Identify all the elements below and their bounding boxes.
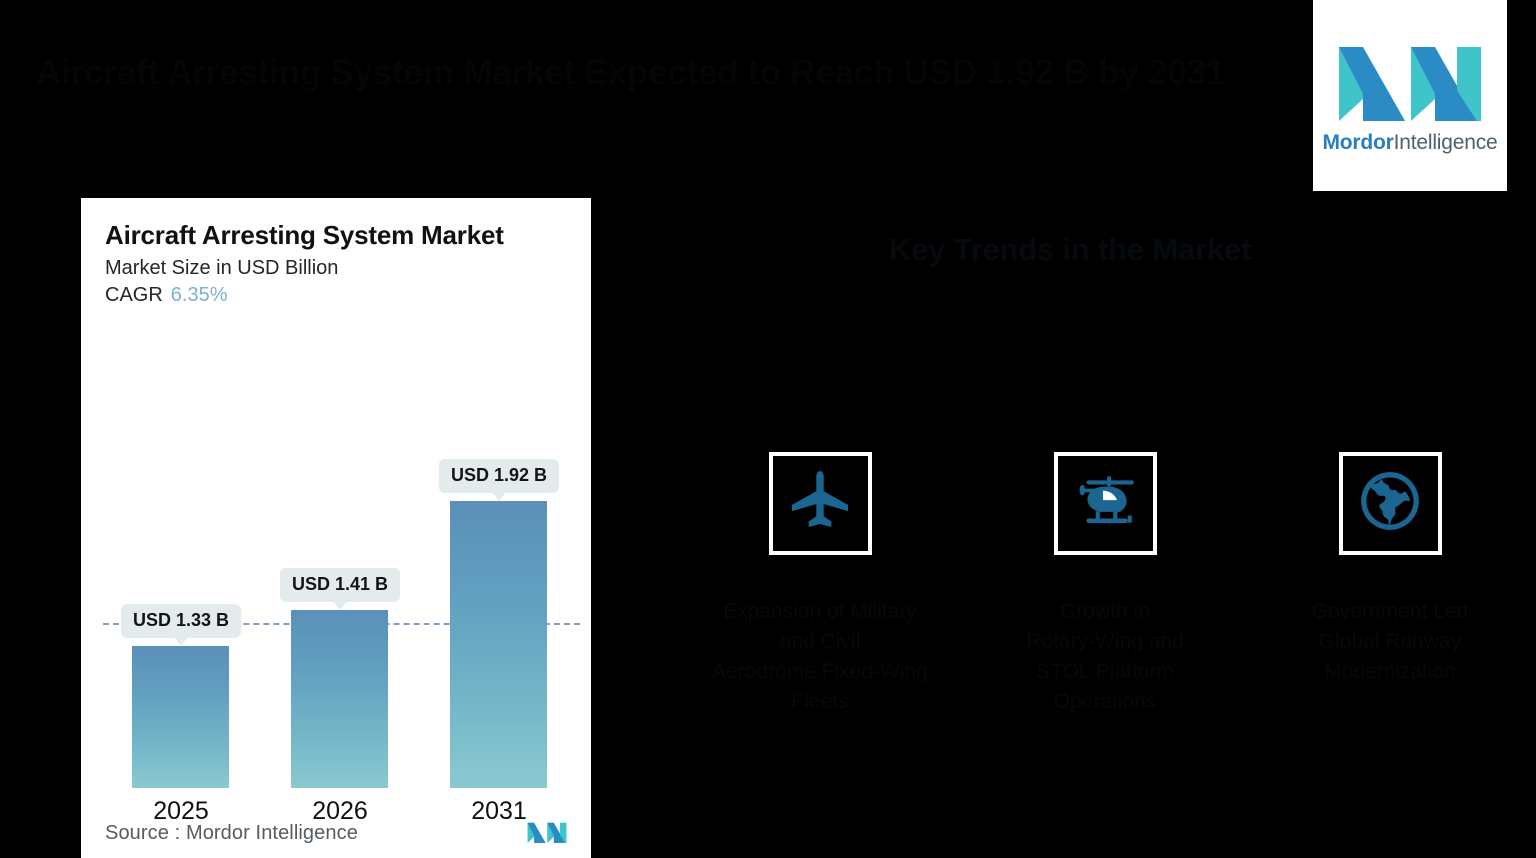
brand-wordmark: MordorIntelligence xyxy=(1323,131,1498,155)
brand-name-light: Intelligence xyxy=(1394,131,1498,154)
trend-icon-box xyxy=(1054,452,1157,555)
source-row: Source : Mordor Intelligence xyxy=(105,820,567,846)
bar-chart-plot: USD 1.33 B USD 1.41 B USD 1.92 B 2025 20… xyxy=(81,318,591,788)
trends-row: Expansion of Militaryand CivilAerodrome … xyxy=(700,452,1510,717)
mordor-m-logo-icon xyxy=(527,820,567,846)
bar-value-label-2025: USD 1.33 B xyxy=(121,604,241,638)
cagr-label: CAGR xyxy=(105,284,163,306)
globe-icon xyxy=(1357,468,1423,539)
trends-heading: Key Trends in the Market xyxy=(640,232,1500,268)
trend-item-runway-modernization: Government LedGlobal RunwayModernization xyxy=(1270,452,1510,717)
brand-logo-card: MordorIntelligence xyxy=(1313,0,1507,191)
cagr-value: 6.35% xyxy=(171,284,228,306)
chart-cagr-row: CAGR6.35% xyxy=(105,284,567,307)
chart-subtitle: Market Size in USD Billion xyxy=(105,257,567,280)
source-label: Source : Mordor Intelligence xyxy=(105,822,358,845)
bar-value-label-2031: USD 1.92 B xyxy=(439,459,559,493)
airplane-icon xyxy=(787,468,853,539)
trend-caption: Government LedGlobal RunwayModernization xyxy=(1312,597,1468,687)
bar-2025 xyxy=(132,646,229,788)
trend-icon-box xyxy=(769,452,872,555)
trend-item-rotary-wing: Growth inRotary-Wing andSTOL PlatformOpe… xyxy=(985,452,1225,717)
bar-2031 xyxy=(450,501,547,788)
bar-2026 xyxy=(291,610,388,788)
brand-name-bold: Mordor xyxy=(1323,131,1394,154)
helicopter-icon xyxy=(1072,468,1138,539)
page-title: Aircraft Arresting System Market Expecte… xyxy=(36,48,1286,98)
chart-title: Aircraft Arresting System Market xyxy=(105,220,567,251)
chart-card: Aircraft Arresting System Market Market … xyxy=(81,198,591,858)
trend-item-fixed-wing: Expansion of Militaryand CivilAerodrome … xyxy=(700,452,940,717)
trend-caption: Growth inRotary-Wing andSTOL PlatformOpe… xyxy=(1026,597,1184,717)
bar-value-label-2026: USD 1.41 B xyxy=(280,568,400,602)
trend-icon-box xyxy=(1339,452,1442,555)
mordor-m-logo-icon xyxy=(1337,37,1483,121)
trend-caption: Expansion of Militaryand CivilAerodrome … xyxy=(712,597,928,717)
